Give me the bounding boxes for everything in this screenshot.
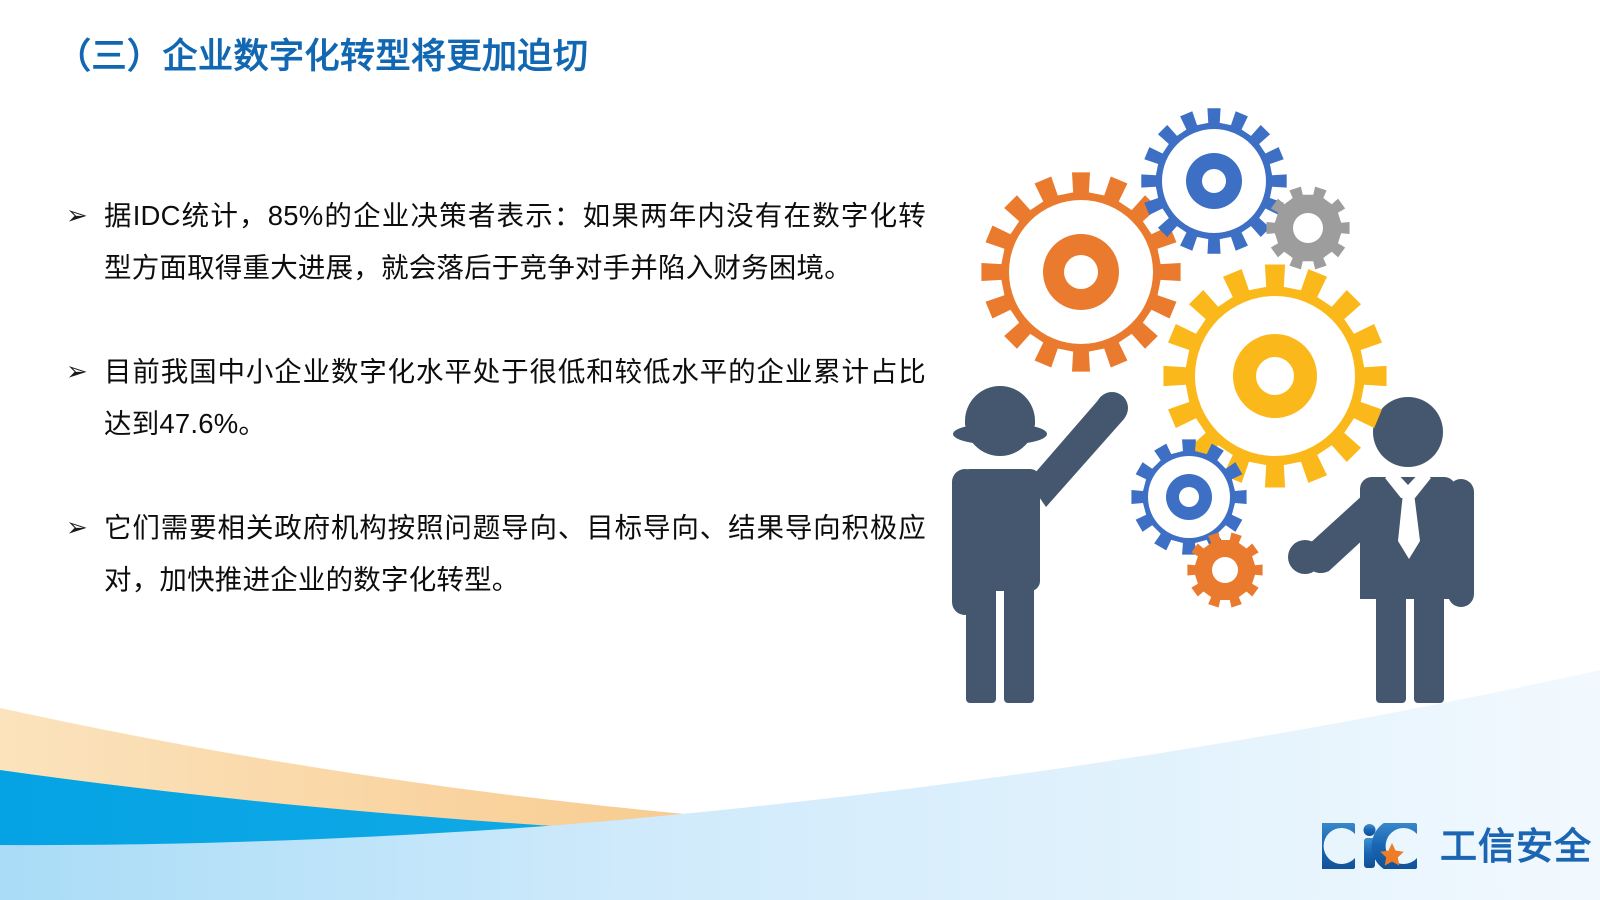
businessman-left-leg <box>1376 595 1406 703</box>
gear-yellow-large-bore <box>1256 357 1294 395</box>
gear-blue-top <box>1141 108 1286 253</box>
cic-logo-icon <box>1322 823 1434 869</box>
worker-raised-hand <box>1096 392 1128 424</box>
hardhat-dome-icon <box>965 390 1035 425</box>
arrow-bullet-icon: ➢ <box>66 190 104 242</box>
gears-and-people-illustration <box>940 95 1480 705</box>
worker-left-leg <box>966 585 996 703</box>
gear-blue-small <box>1131 439 1246 554</box>
bullet-text: 据IDC统计，85%的企业决策者表示：如果两年内没有在数字化转型方面取得重大进展… <box>104 190 926 294</box>
businessman-head <box>1373 397 1443 467</box>
gear-blue-top-bore <box>1202 169 1226 193</box>
logo-company-name: 工信安全 <box>1440 828 1592 865</box>
gear-gray-small-bore <box>1293 213 1323 243</box>
arrow-bullet-icon: ➢ <box>66 502 104 554</box>
list-item: ➢ 它们需要相关政府机构按照问题导向、目标导向、结果导向积极应对，加快推进企业的… <box>66 502 926 606</box>
bullet-text: 它们需要相关政府机构按照问题导向、目标导向、结果导向积极应对，加快推进企业的数字… <box>104 502 926 606</box>
cic-logo-mark <box>1322 823 1434 869</box>
worker-right-leg <box>1004 585 1034 703</box>
list-item: ➢ 目前我国中小企业数字化水平处于很低和较低水平的企业累计占比达到47.6%。 <box>66 346 926 450</box>
page-title: （三）企业数字化转型将更加迫切 <box>56 36 589 78</box>
arrow-bullet-icon: ➢ <box>66 346 104 398</box>
businessman-right-arm <box>1448 479 1474 607</box>
worker-figure <box>952 386 1128 703</box>
list-item: ➢ 据IDC统计，85%的企业决策者表示：如果两年内没有在数字化转型方面取得重大… <box>66 190 926 294</box>
gear-orange-small-bore <box>1212 557 1238 583</box>
gear-orange-large-bore <box>1064 255 1098 289</box>
businessman-right-leg <box>1414 595 1444 703</box>
brand-logo: 工信安全 <box>1322 818 1592 874</box>
businessman-hand <box>1288 540 1322 574</box>
bullet-list: ➢ 据IDC统计，85%的企业决策者表示：如果两年内没有在数字化转型方面取得重大… <box>66 190 926 606</box>
cic-letter-c1 <box>1322 823 1355 869</box>
gear-orange-small <box>1187 533 1262 608</box>
bullet-text: 目前我国中小企业数字化水平处于很低和较低水平的企业累计占比达到47.6%。 <box>104 346 926 450</box>
slide-canvas: （三）企业数字化转型将更加迫切 ➢ 据IDC统计，85%的企业决策者表示：如果两… <box>0 0 1600 900</box>
gear-blue-small-bore <box>1179 487 1199 507</box>
gear-gray-small <box>1266 187 1349 270</box>
cic-letter-i-dot <box>1364 824 1376 836</box>
